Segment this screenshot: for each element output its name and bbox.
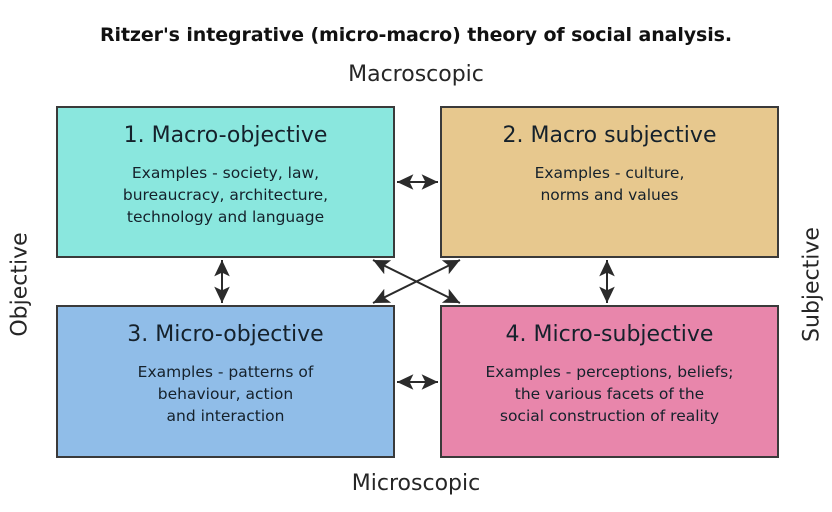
quadrant-examples: Examples - society, law, bureaucracy, ar… [109,162,342,228]
quadrant-heading: 3. Micro-objective [127,321,323,349]
quadrant-heading: 1. Macro-objective [124,122,328,150]
quadrant-examples: Examples - perceptions, beliefs; the var… [472,361,748,427]
quadrant-macro-subjective[interactable]: 2. Macro subjective Examples - culture, … [440,106,779,258]
diagram-canvas: Ritzer's integrative (micro-macro) theor… [0,0,832,512]
axis-label-microscopic: Microscopic [0,471,832,496]
quadrant-heading: 2. Macro subjective [503,122,717,150]
quadrant-micro-objective[interactable]: 3. Micro-objective Examples - patterns o… [56,305,395,458]
quadrant-heading: 4. Micro-subjective [506,321,714,349]
axis-label-objective: Objective [8,225,33,345]
axis-label-subjective: Subjective [800,225,825,345]
diagram-title: Ritzer's integrative (micro-macro) theor… [0,24,832,46]
quadrant-examples: Examples - patterns of behaviour, action… [124,361,328,427]
arrow-macro-subjective-to-micro-objective [373,260,460,303]
quadrant-micro-subjective[interactable]: 4. Micro-subjective Examples - perceptio… [440,305,779,458]
axis-label-macroscopic: Macroscopic [0,62,832,87]
arrow-macro-objective-to-micro-subjective [373,260,460,303]
quadrant-macro-objective[interactable]: 1. Macro-objective Examples - society, l… [56,106,395,258]
quadrant-examples: Examples - culture, norms and values [521,162,699,206]
